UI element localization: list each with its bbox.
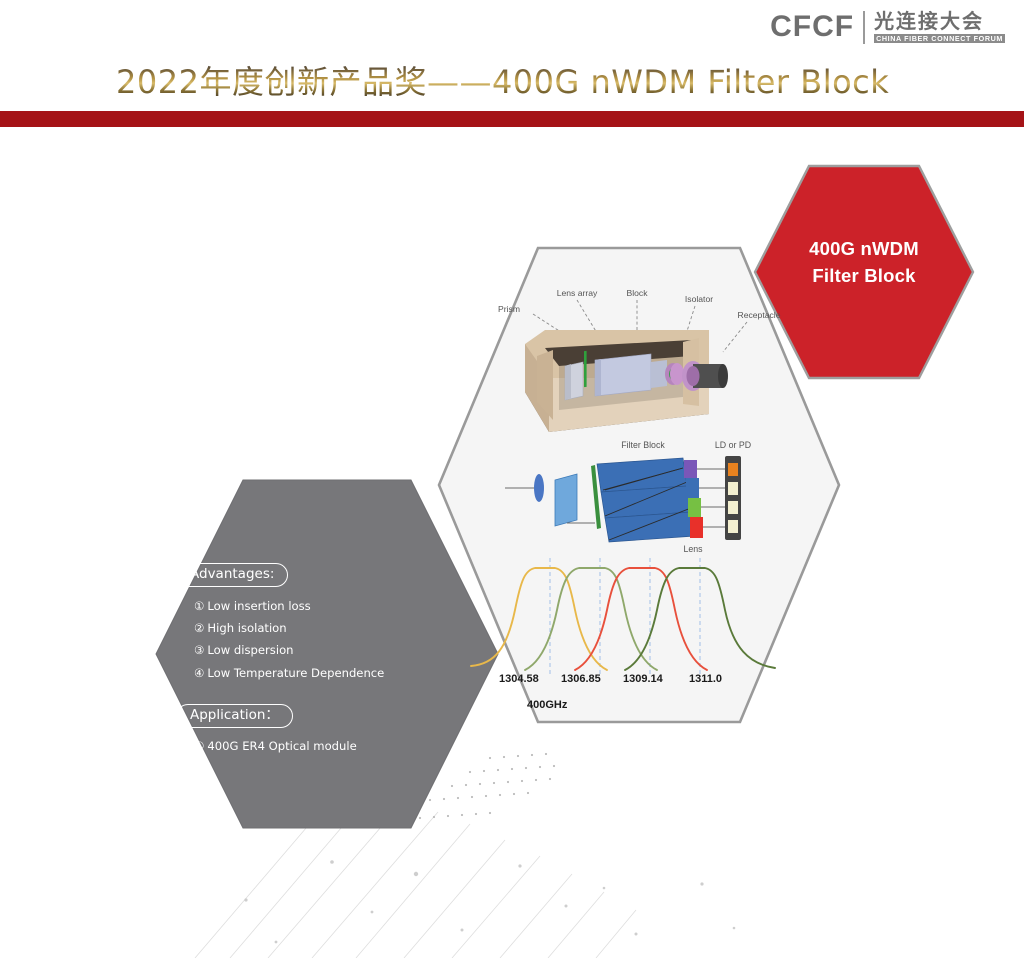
logo-divider <box>863 11 865 44</box>
label-prism: Prism <box>498 304 520 314</box>
list-item-label: 400G ER4 Optical module <box>207 739 356 753</box>
list-item: ④Low Temperature Dependence <box>194 662 476 684</box>
list-item-label: Low insertion loss <box>207 599 310 613</box>
application-list: ①400G ER4 Optical module <box>194 735 476 757</box>
spacing-annotation: 400GHz <box>527 699 568 711</box>
channel-label-4: 1311.0 <box>689 673 722 685</box>
list-item: ②High isolation <box>194 617 476 639</box>
curve-ch1 <box>471 568 607 670</box>
slide-root: CFCF 光连接大会 CHINA FIBER CONNECT FORUM 202… <box>0 0 1024 958</box>
list-item-label: High isolation <box>207 621 286 635</box>
cfcf-forum-logo: CFCF 光连接大会 CHINA FIBER CONNECT FORUM <box>655 6 1005 48</box>
list-item-number: ④ <box>194 666 204 680</box>
gray-hexagon-content: Advantages: ①Low insertion loss ②High is… <box>176 563 476 757</box>
application-heading: Application： <box>176 704 293 728</box>
label-block: Block <box>626 288 648 298</box>
curve-ch4 <box>625 568 775 670</box>
cfcf-english-name: CHINA FIBER CONNECT FORUM <box>874 34 1005 43</box>
channel-label-1: 1304.58 <box>499 673 539 685</box>
list-item-number: ① <box>194 599 204 613</box>
footer-logos: Auxora Color the World A COMPANY OF 天孚通信 <box>0 868 1024 938</box>
channel-label-2: 1306.85 <box>561 673 601 685</box>
channel-label-3: 1309.14 <box>623 673 664 685</box>
diagram-stack: Prism Lens array Block Isolator Receptac… <box>437 246 841 724</box>
advantages-heading: Advantages: <box>176 563 288 587</box>
cfcf-chinese-name: 光连接大会 <box>874 11 984 31</box>
list-item-label: Low dispersion <box>207 643 293 657</box>
application-block: Application： ①400G ER4 Optical module <box>176 704 476 757</box>
label-ld-or-pd: LD or PD <box>715 440 751 450</box>
list-item-number: ③ <box>194 643 204 657</box>
label-isolator: Isolator <box>685 294 713 304</box>
header-red-rule <box>0 111 1024 127</box>
cfcf-wordmark: CFCF <box>770 12 854 42</box>
label-receptacle: Receptacle <box>738 310 781 320</box>
page-title: 2022年度创新产品奖——400G nWDM Filter Block <box>116 57 889 103</box>
list-item-number: ② <box>194 621 204 635</box>
list-item: ③Low dispersion <box>194 639 476 661</box>
spectral-passband-chart: 1304.58 1306.85 1309.14 1311.0 400GHz <box>437 552 841 712</box>
list-item: ①400G ER4 Optical module <box>194 735 476 757</box>
list-item-label: Low Temperature Dependence <box>207 666 384 680</box>
label-lens-array: Lens array <box>557 288 598 298</box>
list-item: ①Low insertion loss <box>194 595 476 617</box>
cfcf-logo-text-group: 光连接大会 CHINA FIBER CONNECT FORUM <box>874 11 1005 43</box>
optical-path-diagram: Filter Block LD or PD Lens <box>437 424 841 554</box>
advantages-list: ①Low insertion loss ②High isolation ③Low… <box>194 595 476 685</box>
list-item-number: ① <box>194 739 204 753</box>
label-filter-block: Filter Block <box>621 440 665 450</box>
